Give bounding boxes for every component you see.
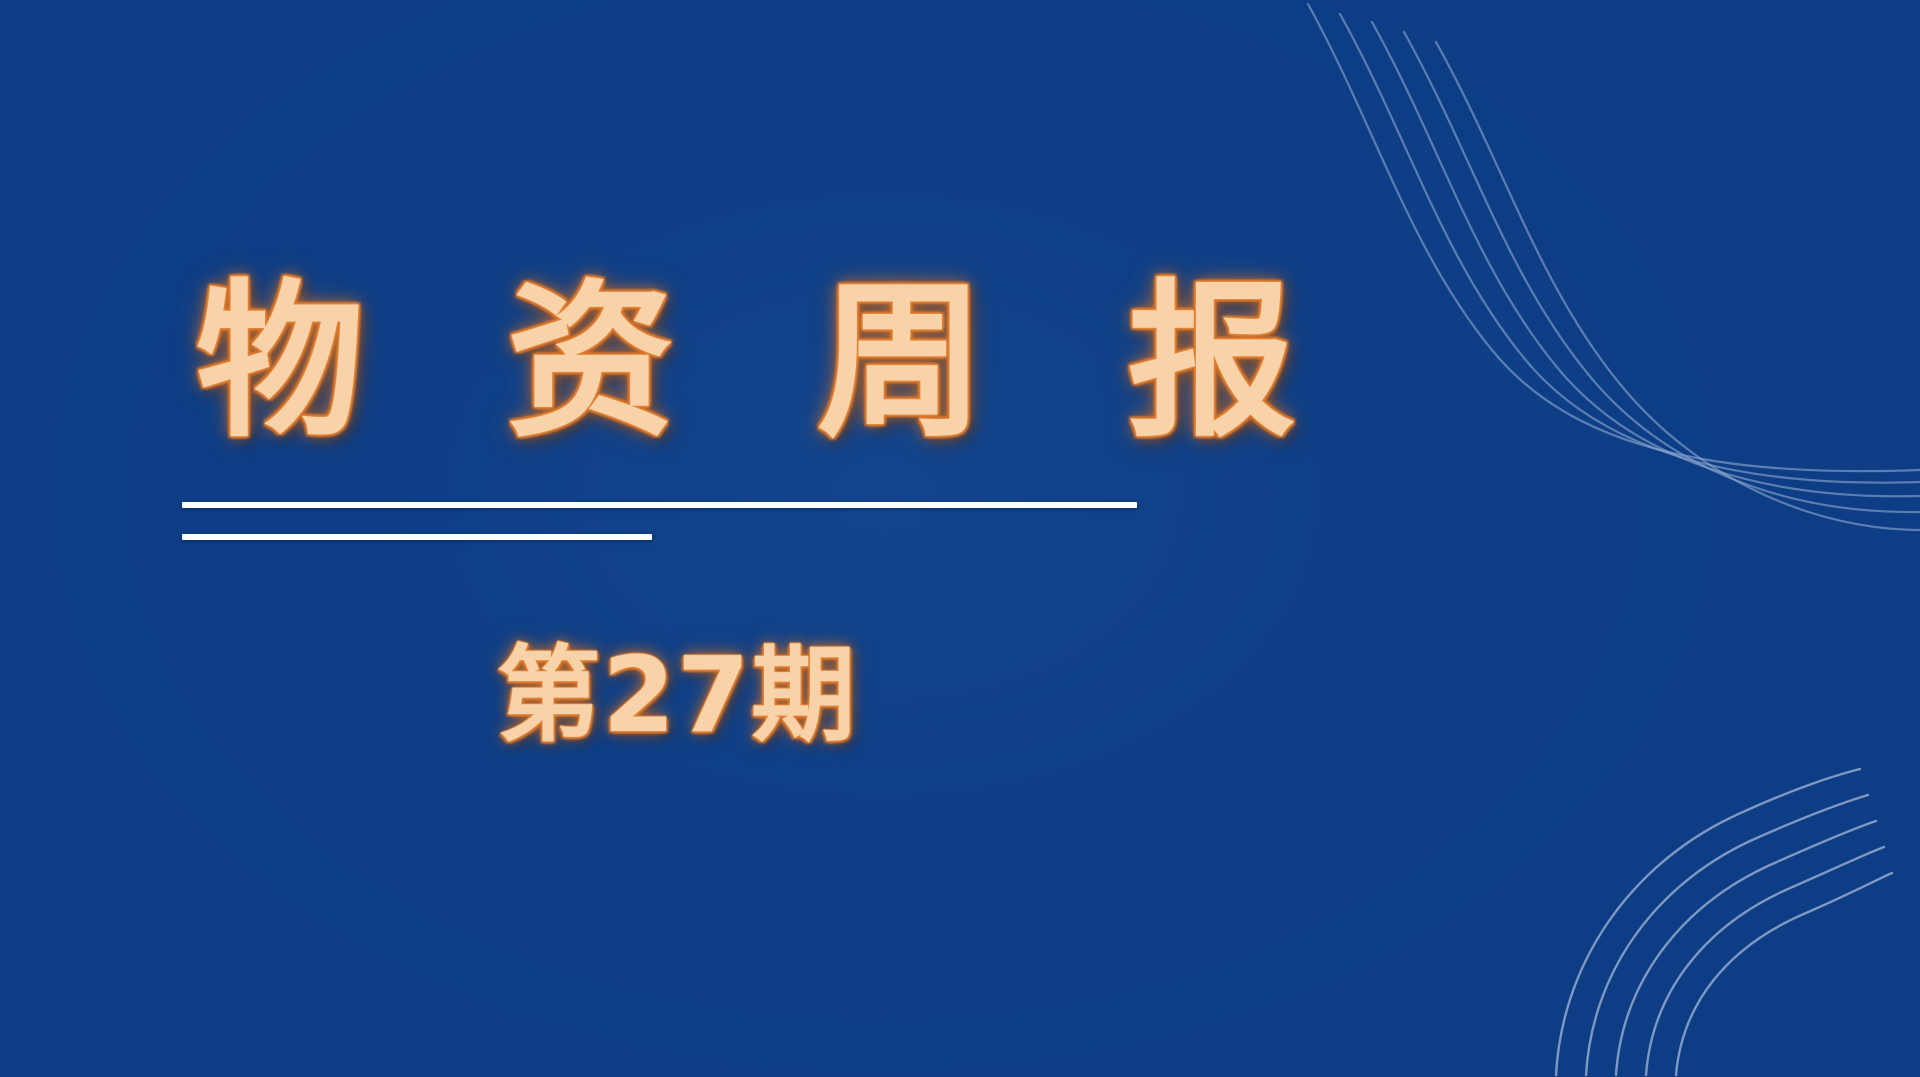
subtitle-wrap: 第27期	[182, 636, 1172, 756]
issue-subtitle: 第27期	[497, 636, 858, 756]
bottom-right-arc-ribbon	[1500, 727, 1920, 1077]
title-slide: 物 资 周 报 第27期	[0, 0, 1920, 1077]
top-right-wave-ribbon	[1260, 0, 1920, 580]
title-underline-long	[182, 502, 1137, 508]
title-underline-short	[182, 534, 652, 540]
title-underlines	[182, 502, 1182, 540]
title-block: 物 资 周 报	[182, 272, 1182, 453]
page-title: 物 资 周 报	[182, 272, 1182, 453]
